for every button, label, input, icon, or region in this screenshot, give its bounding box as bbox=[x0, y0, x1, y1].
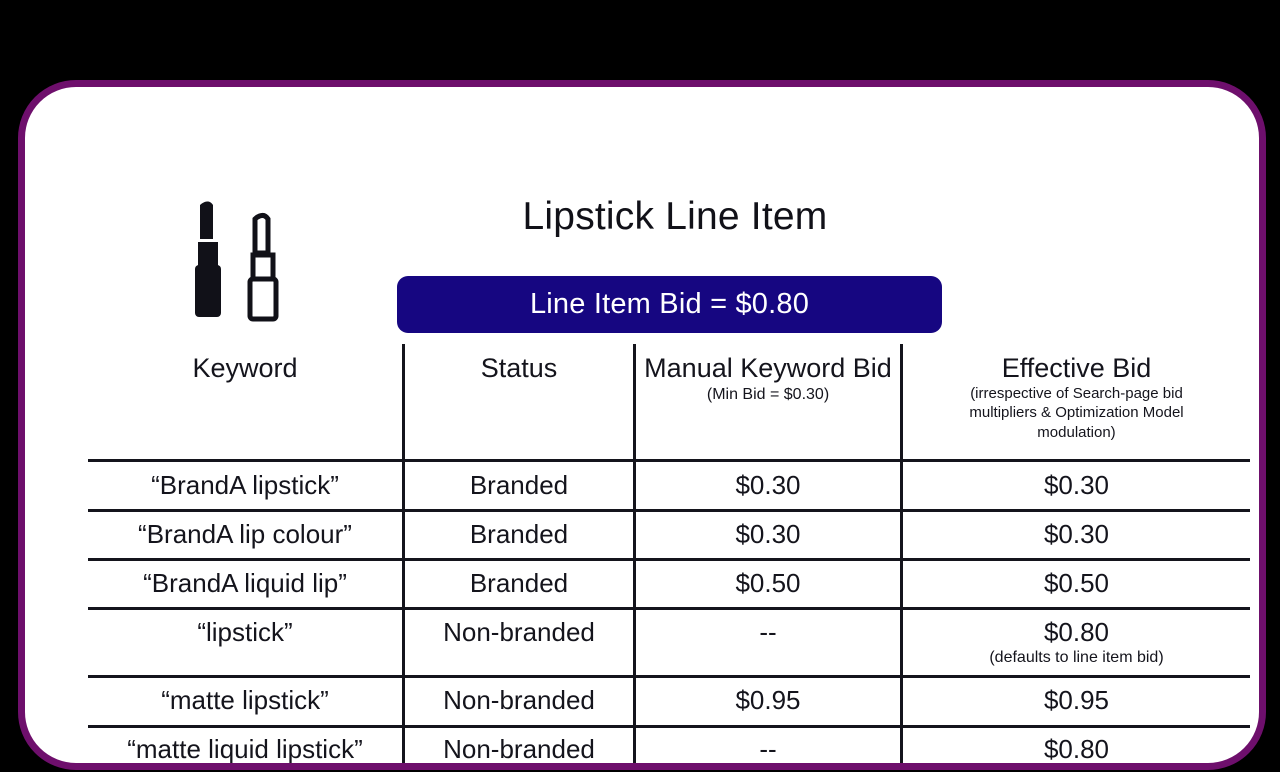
table-row: $0.95 bbox=[903, 686, 1250, 716]
table-row: $0.80 (defaults to line item bid) bbox=[903, 735, 1250, 770]
table-row: $0.50 bbox=[636, 569, 900, 599]
table-row: “BrandA lip colour” bbox=[88, 520, 402, 550]
table-row: Branded bbox=[405, 471, 633, 501]
lipstick-icon-group bbox=[167, 191, 307, 331]
table-row: “BrandA liquid lip” bbox=[88, 569, 402, 599]
table-row: $0.30 bbox=[903, 520, 1250, 550]
effective-bid-note: (defaults to line item bid) bbox=[903, 649, 1250, 667]
column-header-effective-bid-note-line-1: (irrespective of Search-page bid bbox=[903, 385, 1250, 403]
table-row: “lipstick” bbox=[88, 618, 402, 648]
table-row: Branded bbox=[405, 569, 633, 599]
slide-canvas: Lipstick Line Item Line Item Bid = $0.80… bbox=[0, 0, 1280, 772]
table-row: $0.95 bbox=[636, 686, 900, 716]
table-row: Branded bbox=[405, 520, 633, 550]
row-divider-1 bbox=[88, 509, 1250, 512]
effective-bid-value: $0.80 bbox=[903, 618, 1250, 648]
content-card: Lipstick Line Item Line Item Bid = $0.80… bbox=[18, 80, 1266, 770]
column-header-keyword: Keyword bbox=[88, 353, 402, 384]
row-divider-header bbox=[88, 459, 1250, 462]
column-header-effective-bid-label: Effective Bid bbox=[903, 353, 1250, 384]
table-row: $0.80 (defaults to line item bid) bbox=[903, 618, 1250, 667]
lipstick-icons-svg bbox=[167, 191, 307, 331]
table-row: Non-branded bbox=[405, 686, 633, 716]
row-divider-4 bbox=[88, 675, 1250, 678]
row-divider-2 bbox=[88, 558, 1250, 561]
column-header-effective-bid-note-line-3: modulation) bbox=[903, 424, 1250, 442]
column-header-manual-keyword-bid-note: (Min Bid = $0.30) bbox=[636, 386, 900, 404]
column-header-status: Status bbox=[405, 353, 633, 384]
bids-table: Keyword Status Manual Keyword Bid (Min B… bbox=[88, 344, 1250, 770]
column-header-keyword-label: Keyword bbox=[88, 353, 402, 384]
table-row: “matte lipstick” bbox=[88, 686, 402, 716]
line-item-bid-banner: Line Item Bid = $0.80 bbox=[397, 276, 942, 333]
table-row: $0.30 bbox=[636, 471, 900, 501]
row-divider-5 bbox=[88, 725, 1250, 728]
column-header-effective-bid: Effective Bid (irrespective of Search-pa… bbox=[903, 353, 1250, 442]
page-title: Lipstick Line Item bbox=[395, 195, 955, 239]
effective-bid-value: $0.80 bbox=[903, 735, 1250, 765]
effective-bid-note: (defaults to line item bid) bbox=[903, 766, 1250, 770]
table-row: “matte liquid lipstick” bbox=[88, 735, 402, 765]
table-row: -- bbox=[636, 618, 900, 648]
table-row: Non-branded bbox=[405, 735, 633, 765]
table-row: “BrandA lipstick” bbox=[88, 471, 402, 501]
table-row: $0.50 bbox=[903, 569, 1250, 599]
table-row: Non-branded bbox=[405, 618, 633, 648]
line-item-bid-label: Line Item Bid = $0.80 bbox=[530, 288, 809, 321]
row-divider-3 bbox=[88, 607, 1250, 610]
table-row: -- bbox=[636, 735, 900, 765]
column-header-manual-keyword-bid: Manual Keyword Bid (Min Bid = $0.30) bbox=[636, 353, 900, 404]
table-row: $0.30 bbox=[903, 471, 1250, 501]
lipstick-solid-icon bbox=[195, 201, 221, 317]
lipstick-outline-icon bbox=[250, 215, 276, 319]
column-header-manual-keyword-bid-label: Manual Keyword Bid bbox=[636, 353, 900, 384]
table-row: $0.30 bbox=[636, 520, 900, 550]
column-header-status-label: Status bbox=[405, 353, 633, 384]
column-header-effective-bid-note-line-2: multipliers & Optimization Model bbox=[903, 404, 1250, 422]
